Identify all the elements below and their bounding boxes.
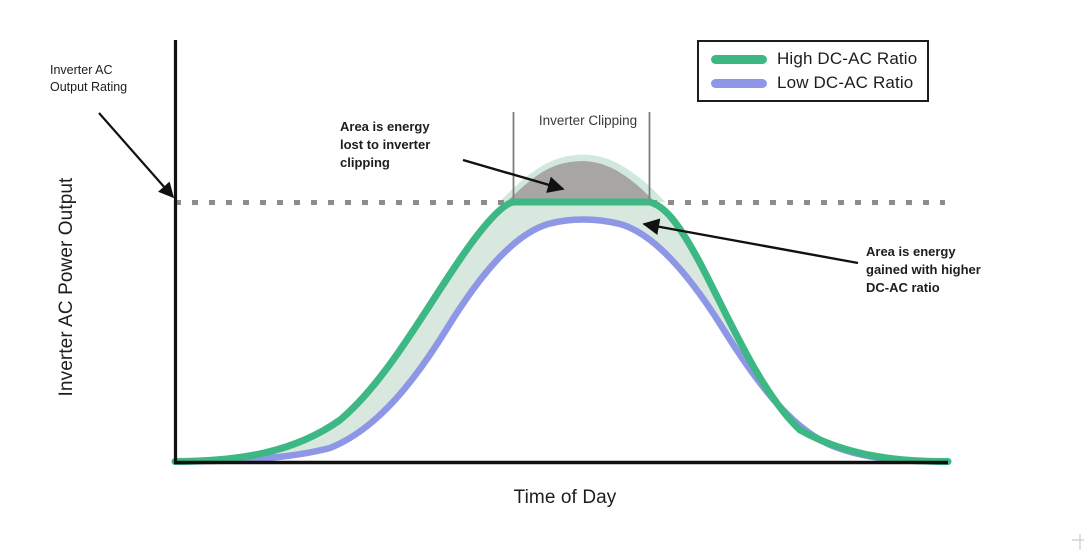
inverter-clipping-label: Inverter Clipping xyxy=(500,113,676,128)
legend-label-low-dc-ac-ratio: Low DC-AC Ratio xyxy=(777,73,913,93)
legend-item-high-dc-ac-ratio: High DC-AC Ratio xyxy=(711,49,917,69)
chart-legend: High DC-AC Ratio Low DC-AC Ratio xyxy=(697,40,929,102)
energy-gained-band xyxy=(175,202,948,463)
page-corner-mark xyxy=(1072,534,1084,550)
legend-swatch-high-dc-ac-ratio xyxy=(711,55,767,64)
energy-lost-annotation: Area is energy lost to inverter clipping xyxy=(340,118,490,172)
y-axis-label: Inverter AC Power Output xyxy=(56,157,78,417)
x-axis-label: Time of Day xyxy=(450,487,680,509)
rating-annotation-arrow xyxy=(99,113,173,197)
energy-gained-annotation: Area is energy gained with higher DC-AC … xyxy=(866,243,1016,297)
legend-item-low-dc-ac-ratio: Low DC-AC Ratio xyxy=(711,73,913,93)
series-line-high-dc-ac-ratio xyxy=(175,202,948,462)
series-line-low-dc-ac-ratio xyxy=(175,220,948,462)
chart-figure: Inverter AC Power Output Time of Day Inv… xyxy=(0,0,1084,550)
legend-label-high-dc-ac-ratio: High DC-AC Ratio xyxy=(777,49,917,69)
inverter-rating-annotation: Inverter AC Output Rating xyxy=(50,62,185,95)
legend-swatch-low-dc-ac-ratio xyxy=(711,79,767,88)
